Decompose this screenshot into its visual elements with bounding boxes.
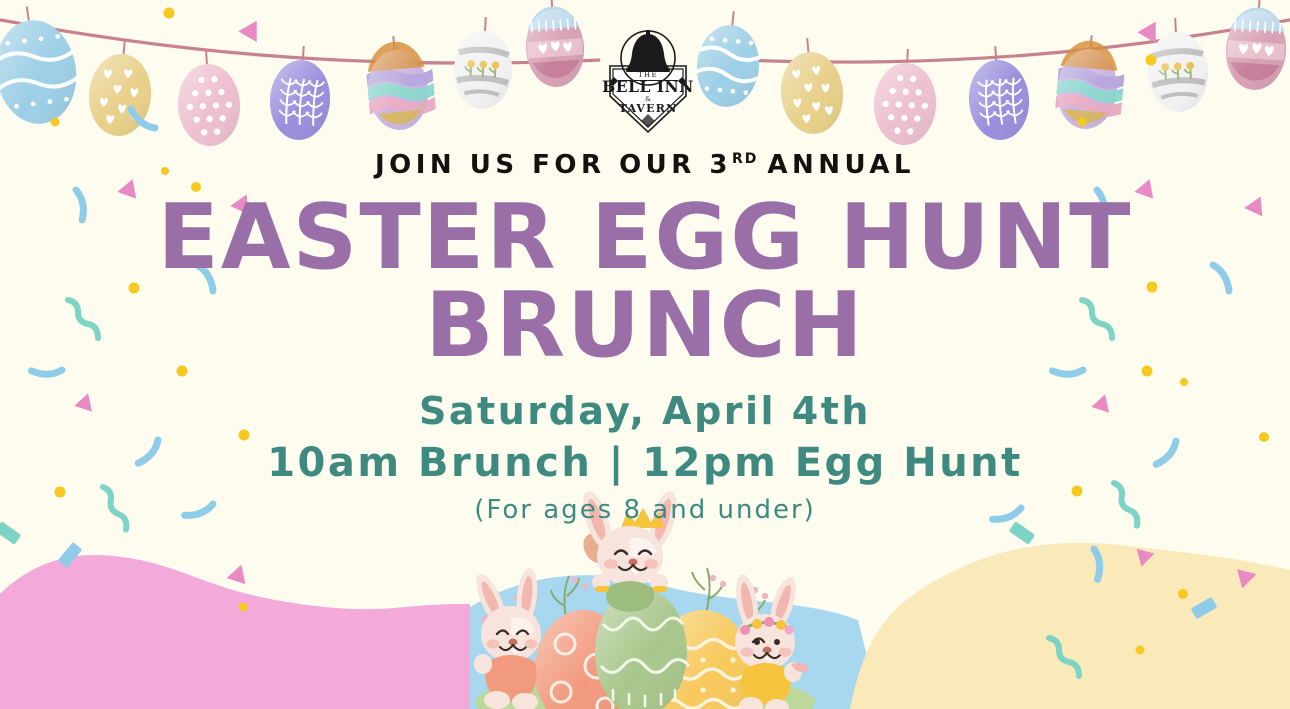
bunny-center-with-crown bbox=[577, 488, 682, 612]
easter-event-poster: THE BELL INN & TAVERN bbox=[0, 0, 1290, 709]
bunny-right-with-wreath bbox=[732, 573, 809, 709]
bunny-left-with-flower bbox=[470, 567, 541, 709]
bunny-egg-illustration bbox=[0, 0, 1290, 709]
